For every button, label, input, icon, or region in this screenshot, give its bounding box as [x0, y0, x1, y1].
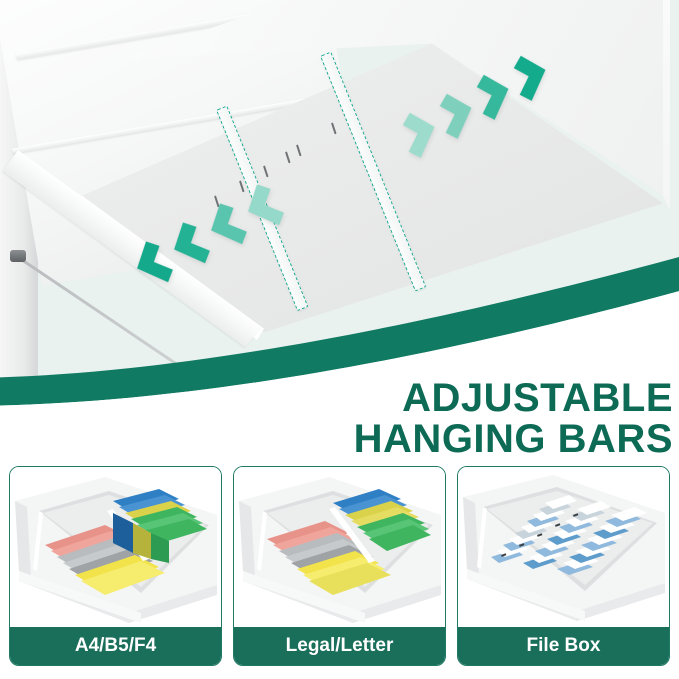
panel-filebox-photo [458, 467, 669, 627]
headline-line-1: ADJUSTABLE [354, 378, 673, 419]
panel-a4-b5-f4[interactable]: A4/B5/F4 [9, 466, 222, 666]
headline-line-2: HANGING BARS [354, 419, 673, 460]
panel-a4-caption: A4/B5/F4 [10, 627, 221, 665]
panel-filebox-caption: File Box [458, 627, 669, 665]
panel-legal-photo [234, 467, 445, 627]
mini-drawer-a4 [10, 467, 221, 627]
headline: ADJUSTABLE HANGING BARS [354, 378, 673, 460]
size-options: A4/B5/F4 [0, 466, 679, 679]
mini-drawer-legal [234, 467, 445, 627]
panel-a4-photo [10, 467, 221, 627]
mini-drawer-filebox [458, 467, 669, 627]
panel-file-box[interactable]: File Box [457, 466, 670, 666]
panel-legal-letter[interactable]: Legal/Letter [233, 466, 446, 666]
product-infographic: ADJUSTABLE HANGING BARS [0, 0, 679, 679]
panel-legal-caption: Legal/Letter [234, 627, 445, 665]
